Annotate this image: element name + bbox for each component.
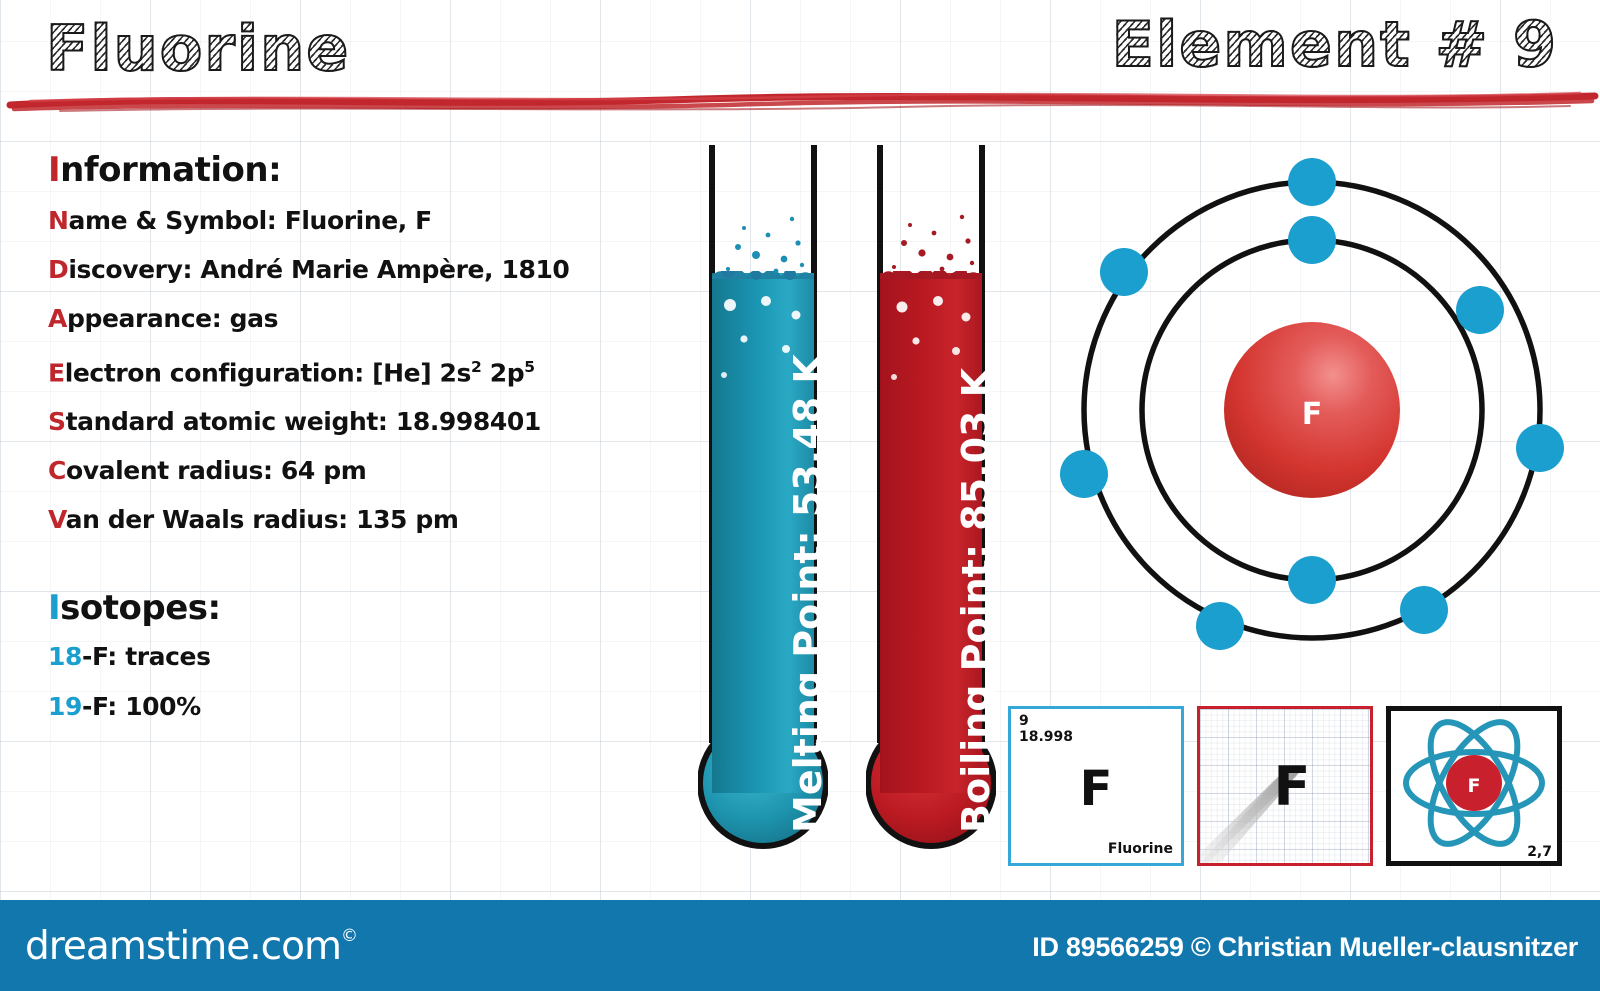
thermometer-boiling-point: Boiling Point: 85.03 K xyxy=(866,143,996,858)
isotopes-section: Isotopes: 18-F: traces 19-F: 100% xyxy=(48,588,568,732)
tile-element-symbol: F xyxy=(1011,761,1181,817)
dreamstime-logo-text: dreamstime.com xyxy=(25,924,341,969)
isotope-row-text: -F: 100% xyxy=(82,692,201,721)
info-capital: D xyxy=(48,255,68,284)
header-underline-rule xyxy=(0,88,1600,114)
info-capital: A xyxy=(48,304,67,333)
info-row-covalent-radius: Covalent radius: 64 pm xyxy=(48,446,688,495)
electron-config-sup-2s: 2 xyxy=(471,358,481,376)
electron-inner-2 xyxy=(1288,556,1336,604)
nucleus-symbol-label: F xyxy=(1302,397,1323,432)
info-row-text: an der Waals radius: 135 pm xyxy=(66,505,459,534)
electron-outer-5 xyxy=(1196,602,1244,650)
info-row-text: ame & Symbol: Fluorine, F xyxy=(69,206,432,235)
info-row-text: ovalent radius: 64 pm xyxy=(66,456,366,485)
atom-icon-graphic: F xyxy=(1399,713,1549,853)
information-section: Information: Name & Symbol: Fluorine, F … xyxy=(48,150,688,544)
image-credit: ID 89566259 © Christian Mueller-clausnit… xyxy=(1032,932,1578,963)
isotope-row-18f: 18-F: traces xyxy=(48,632,568,682)
electron-config-sup-2p: 5 xyxy=(524,358,534,376)
info-capital: E xyxy=(48,358,65,387)
info-row-electron-configuration: Electron configuration: [He] 2s2 2p5 xyxy=(48,343,688,397)
dreamstime-logo: dreamstime.com© xyxy=(25,924,357,969)
electron-outer-7 xyxy=(1100,248,1148,296)
electron-inner-1 xyxy=(1288,216,1336,264)
electron-outer-6 xyxy=(1060,450,1108,498)
info-capital: S xyxy=(48,407,66,436)
info-row-text: tandard atomic weight: 18.998401 xyxy=(66,407,541,436)
info-row-discovery: Discovery: André Marie Ampère, 1810 xyxy=(48,245,688,294)
periodic-table-tile: 9 18.998 F Fluorine xyxy=(1008,706,1184,866)
thermometer-melting-point-graphic xyxy=(698,143,828,858)
shadow-tile-symbol: F xyxy=(1274,755,1311,818)
info-row-van-der-waals-radius: Van der Waals radius: 135 pm xyxy=(48,495,688,544)
info-row-name-symbol: Name & Symbol: Fluorine, F xyxy=(48,196,688,245)
bohr-atom-diagram: F xyxy=(1052,148,1572,668)
info-capital: V xyxy=(48,505,66,534)
long-shadow-symbol-tile: F xyxy=(1197,706,1373,866)
isotopes-heading-capital: I xyxy=(48,588,60,628)
footer-bar: dreamstime.com© ID 89566259 © Christian … xyxy=(0,900,1600,991)
atom-icon-symbol: F xyxy=(1468,775,1481,797)
isotope-mass-number: 19 xyxy=(48,692,82,721)
isotopes-heading-rest: sotopes: xyxy=(60,588,220,628)
long-shadow-symbol-graphic: F xyxy=(1200,709,1370,863)
information-heading-rest: nformation: xyxy=(60,150,281,190)
info-row-text: lectron configuration: [He] 2s xyxy=(65,358,471,387)
electron-outer-4 xyxy=(1400,586,1448,634)
registered-mark-icon: © xyxy=(341,926,357,946)
infographic-canvas: Fluorine Element # 9 Information: Name &… xyxy=(0,0,1600,991)
information-heading-capital: I xyxy=(48,150,60,190)
thermometer-boiling-point-graphic xyxy=(866,143,996,858)
page-title-element-number: Element # 9 xyxy=(1112,8,1558,81)
info-row-text: iscovery: André Marie Ampère, 1810 xyxy=(68,255,569,284)
isotope-row-19f: 19-F: 100% xyxy=(48,682,568,732)
electron-outer-2 xyxy=(1456,286,1504,334)
info-row-standard-atomic-weight: Standard atomic weight: 18.998401 xyxy=(48,397,688,446)
info-row-appearance: Appearance: gas xyxy=(48,294,688,343)
isotope-row-text: -F: traces xyxy=(82,642,211,671)
shell-configuration-label: 2,7 xyxy=(1527,844,1552,860)
info-capital: N xyxy=(48,206,69,235)
info-row-text: ppearance: gas xyxy=(67,304,278,333)
atom-icon-tile: F 2,7 xyxy=(1386,706,1562,866)
tile-element-name: Fluorine xyxy=(1011,841,1173,857)
info-capital: C xyxy=(48,456,66,485)
isotopes-heading: Isotopes: xyxy=(48,588,568,628)
electron-config-mid: 2p xyxy=(481,358,524,387)
isotope-mass-number: 18 xyxy=(48,642,82,671)
thermometer-melting-point: Melting Point: 53.48 K xyxy=(698,143,828,858)
tile-atomic-weight: 18.998 xyxy=(1019,729,1073,745)
electron-outer-3 xyxy=(1516,424,1564,472)
tile-atomic-number: 9 xyxy=(1019,713,1029,729)
information-heading: Information: xyxy=(48,150,688,190)
electron-outer-1 xyxy=(1288,158,1336,206)
page-title-element-name: Fluorine xyxy=(46,12,350,85)
